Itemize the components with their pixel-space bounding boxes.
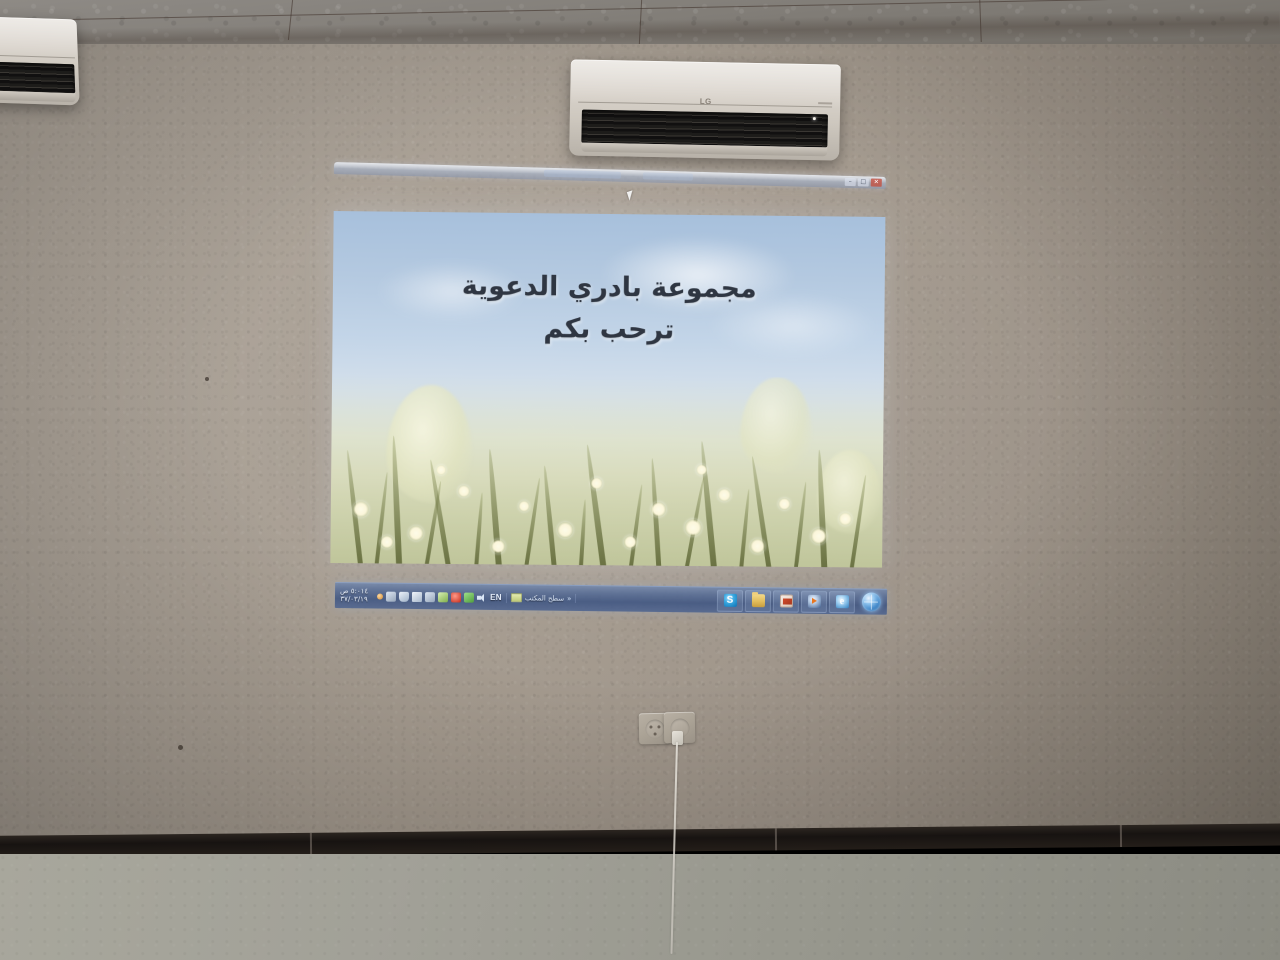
- tile-seam: [310, 833, 312, 855]
- device-icon[interactable]: [386, 591, 396, 601]
- taskbar-app-buttons: [715, 589, 857, 613]
- daisy-flower: [750, 538, 765, 553]
- taskbar-item-media-player[interactable]: [801, 590, 827, 612]
- desktop-toolbar-label: سطح المكتب: [525, 594, 564, 602]
- system-tray: EN: [373, 591, 507, 603]
- close-button[interactable]: ✕: [871, 179, 882, 187]
- tile-seam: [775, 828, 777, 850]
- minimize-icon: –: [845, 178, 856, 186]
- ac-status-led-icon: [813, 117, 816, 120]
- media-player-icon: [807, 595, 820, 608]
- taskbar-item-powerpoint[interactable]: [773, 590, 799, 612]
- socket-hole: [653, 732, 656, 735]
- daisy-flower: [651, 501, 666, 516]
- skype-icon: [723, 594, 736, 607]
- lower-wall-texture: [0, 854, 1280, 960]
- daisy-flower: [696, 464, 707, 475]
- presentation-slide[interactable]: مجموعة بادري الدعوية ترحب بكم: [330, 211, 885, 568]
- tile-seam: [1120, 825, 1122, 847]
- maximize-icon: □: [858, 178, 869, 186]
- folder-icon: [751, 594, 764, 607]
- daisy-flower: [684, 519, 701, 536]
- slide-meadow: [330, 373, 884, 568]
- antivirus-icon[interactable]: [451, 592, 461, 602]
- lg-brand-logo: LG: [700, 96, 712, 105]
- slide-text-block: مجموعة بادري الدعوية ترحب بكم: [332, 267, 884, 350]
- daisy-flower: [778, 498, 790, 510]
- wall-speck: [205, 377, 209, 381]
- close-icon: ✕: [871, 179, 882, 187]
- ac-louver: [0, 91, 75, 102]
- ac-vent-grille: [582, 110, 828, 147]
- socket-hole: [657, 725, 660, 728]
- ac-body: [0, 17, 80, 106]
- desktop-shortcut-icon[interactable]: [511, 593, 522, 602]
- title-bar-tab[interactable]: [544, 170, 621, 179]
- powerpoint-icon: [779, 594, 792, 607]
- ac-side-marking: [818, 103, 832, 105]
- language-indicator[interactable]: EN: [490, 593, 502, 602]
- projected-screen: – □ ✕: [331, 162, 887, 618]
- green-status-icon[interactable]: [438, 592, 448, 602]
- ac-body: LG: [569, 59, 841, 160]
- taskbar-spacer: [576, 598, 715, 600]
- speaker-icon[interactable]: [477, 592, 487, 602]
- desktop-toolbar[interactable]: « سطح المكتب: [507, 593, 577, 603]
- daisy-flower: [408, 526, 423, 541]
- socket-face: [645, 719, 664, 738]
- lower-wall: [0, 854, 1280, 960]
- daisy-flower: [491, 539, 505, 553]
- daisy-flower: [623, 535, 636, 548]
- minimize-button[interactable]: –: [845, 178, 856, 186]
- action-center-flag-icon[interactable]: [412, 591, 422, 601]
- windows-start-orb-icon: [861, 592, 880, 611]
- socket-hole: [649, 725, 652, 728]
- security-shield-icon[interactable]: [399, 591, 409, 601]
- mouse-cursor-icon: [627, 190, 635, 200]
- window-controls: – □ ✕: [845, 178, 882, 187]
- taskbar-clock[interactable]: ٥:٠١٤ ص ٣٧/٠٣/١٩: [335, 588, 373, 603]
- maximize-button[interactable]: □: [858, 178, 869, 186]
- taskbar-item-explorer[interactable]: [745, 590, 771, 612]
- chevron-expand-icon[interactable]: «: [567, 594, 571, 602]
- taskbar-item-internet-explorer[interactable]: [829, 591, 855, 613]
- title-bar-tab[interactable]: [643, 172, 693, 180]
- daisy-flower: [436, 465, 446, 475]
- daisy-flower: [838, 513, 851, 526]
- application-title-bar[interactable]: – □ ✕: [334, 162, 886, 189]
- network-icon[interactable]: [425, 592, 435, 602]
- slide-title-line-2: ترحب بكم: [332, 309, 884, 350]
- windows-taskbar[interactable]: « سطح المكتب EN ٥:٠١٤ ص ٣٧/٠٣/١٩: [335, 582, 887, 615]
- wall-speck: [178, 745, 183, 750]
- daisy-flower: [380, 535, 393, 548]
- ac-vent-grille: [0, 61, 75, 93]
- ie-icon: [835, 595, 848, 608]
- slide-title-line-1: مجموعة بادري الدعوية: [333, 267, 885, 308]
- notification-dot-icon[interactable]: [377, 593, 383, 599]
- taskbar-item-skype[interactable]: [717, 589, 743, 611]
- ac-top-highlight: [0, 17, 78, 59]
- room-scene: LG: [0, 0, 1280, 960]
- clock-date: ٣٧/٠٣/١٩: [340, 596, 367, 604]
- start-button[interactable]: [857, 590, 885, 614]
- air-conditioner-main: LG: [569, 59, 841, 160]
- phone-icon[interactable]: [464, 592, 474, 602]
- air-conditioner-left: [0, 17, 80, 106]
